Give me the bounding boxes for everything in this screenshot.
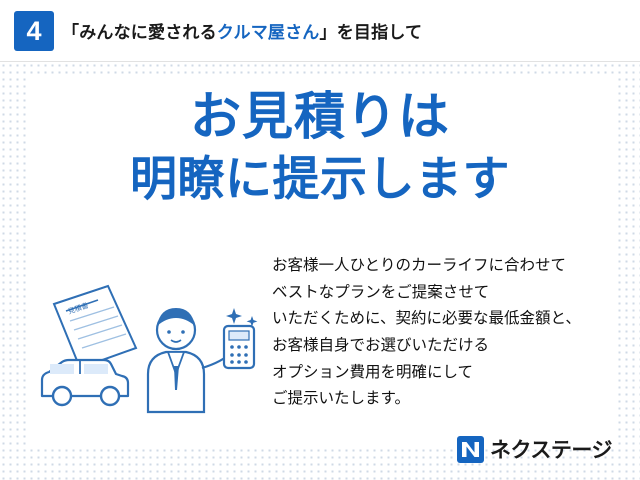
headline-line-2: 明瞭に提示します [0, 150, 640, 209]
body-line-3: いただくために、契約に必要な最低金額と、 [272, 305, 622, 332]
header-title: 「みんなに愛されるクルマ屋さん」を目指して [62, 18, 422, 43]
header-divider [0, 61, 640, 62]
promo-slide: 4 「みんなに愛されるクルマ屋さん」を目指して お見積りは 明瞭に提示します お… [0, 0, 640, 480]
car-icon [42, 360, 128, 405]
step-badge: 4 [14, 11, 54, 51]
body-line-2: ベストなプランをご提案させて [272, 279, 622, 306]
logo-mark-icon [457, 436, 484, 463]
logo-n-glyph [457, 436, 484, 463]
estimate-document-icon [54, 286, 136, 368]
headline-line-1: お見積りは [190, 88, 450, 147]
sparkle-icon [226, 308, 257, 327]
header-title-highlight: クルマ屋さん [217, 23, 320, 42]
body-line-5: オプション費用を明確にして [272, 359, 622, 386]
headline: お見積りは 明瞭に提示します [0, 86, 640, 209]
illustration: 見積書 [36, 256, 272, 416]
calculator-icon [224, 326, 254, 368]
header-bar: 4 「みんなに愛されるクルマ屋さん」を目指して [0, 0, 640, 62]
nextstage-logo: ネクステージ [457, 434, 612, 464]
body-line-4: お客様自身でお選びいただける [272, 332, 622, 359]
header-title-prefix: 「みんなに愛される [62, 23, 217, 42]
logo-text: ネクステージ [490, 434, 612, 464]
illustration-svg: 見積書 [36, 256, 272, 416]
header-title-suffix: 」を目指して [320, 23, 423, 42]
body-copy: お客様一人ひとりのカーライフに合わせて ベストなプランをご提案させて いただくた… [272, 252, 622, 412]
body-line-6: ご提示いたします。 [272, 385, 622, 412]
body-line-1: お客様一人ひとりのカーライフに合わせて [272, 252, 622, 279]
staff-person-icon [148, 308, 232, 412]
